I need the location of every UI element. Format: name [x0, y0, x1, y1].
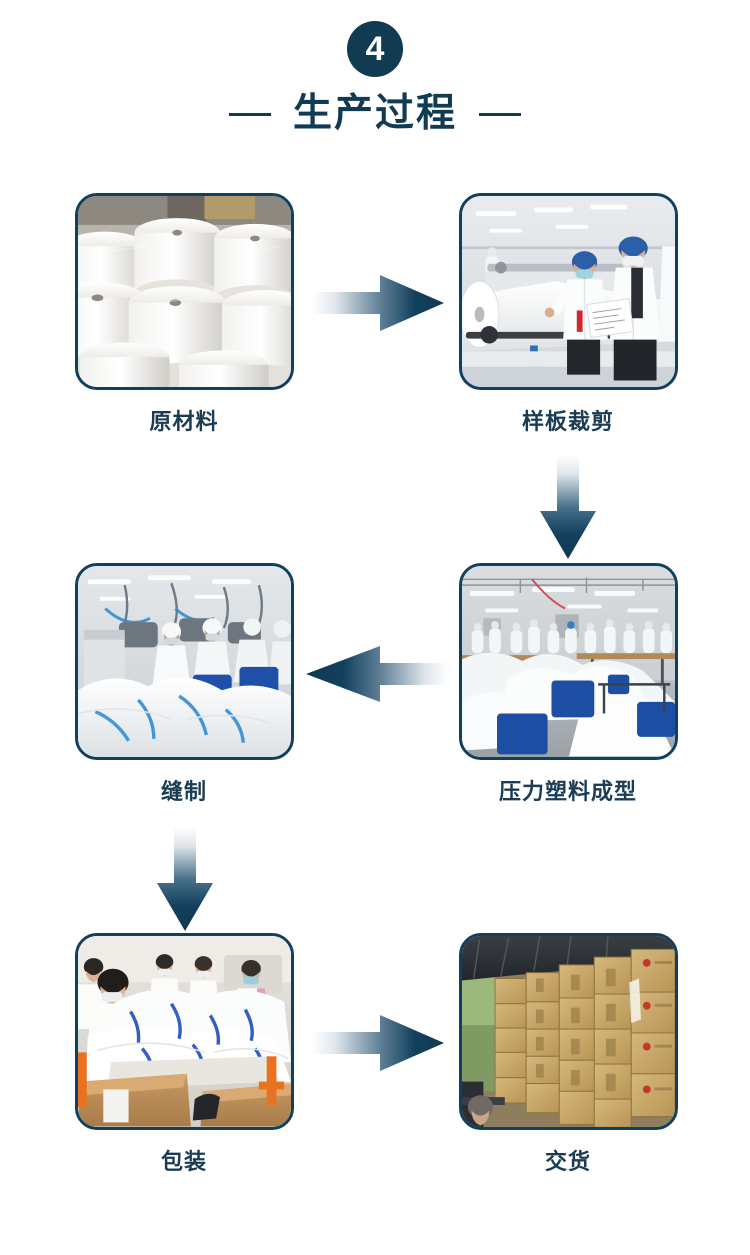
- pressure-plastic-molding-workshop-photo: [459, 563, 678, 760]
- section-title-row: 生产过程: [229, 93, 521, 136]
- process-step-5[interactable]: 包装: [38, 933, 330, 1173]
- process-step-4[interactable]: 压力塑料成型: [422, 563, 714, 803]
- arrow-sewing-to-packing: [156, 827, 214, 931]
- process-step-3[interactable]: 缝制: [38, 563, 330, 803]
- process-step-3-label: 缝制: [161, 781, 207, 803]
- arrow-molding-to-sewing: [306, 645, 438, 703]
- process-step-2-label: 样板裁剪: [522, 411, 614, 433]
- page-title: 生产过程: [293, 93, 457, 136]
- sewing-line-photo: [75, 563, 294, 760]
- title-rule-right: [479, 113, 521, 116]
- production-process-infographic: 4 生产过程: [0, 0, 750, 1255]
- delivery-loaded-truck-photo: [459, 933, 678, 1130]
- sample-cutting-cleanroom-photo: [459, 193, 678, 390]
- title-rule-left: [229, 113, 271, 116]
- raw-material-fabric-rolls-photo: [75, 193, 294, 390]
- process-step-2[interactable]: 样板裁剪: [422, 193, 714, 433]
- packaging-photo: [75, 933, 294, 1130]
- process-step-6-label: 交货: [545, 1151, 591, 1173]
- process-grid: 原材料: [0, 175, 750, 1255]
- section-number-badge: 4: [347, 21, 403, 77]
- process-step-1[interactable]: 原材料: [38, 193, 330, 433]
- section-header: 4 生产过程: [0, 0, 750, 175]
- arrow-cutting-to-molding: [539, 455, 597, 559]
- process-step-5-label: 包装: [161, 1151, 207, 1173]
- process-step-6[interactable]: 交货: [422, 933, 714, 1173]
- arrow-raw-to-cutting: [312, 274, 444, 332]
- process-step-1-label: 原材料: [149, 411, 218, 433]
- arrow-packing-to-delivery: [312, 1014, 444, 1072]
- process-step-4-label: 压力塑料成型: [499, 781, 637, 803]
